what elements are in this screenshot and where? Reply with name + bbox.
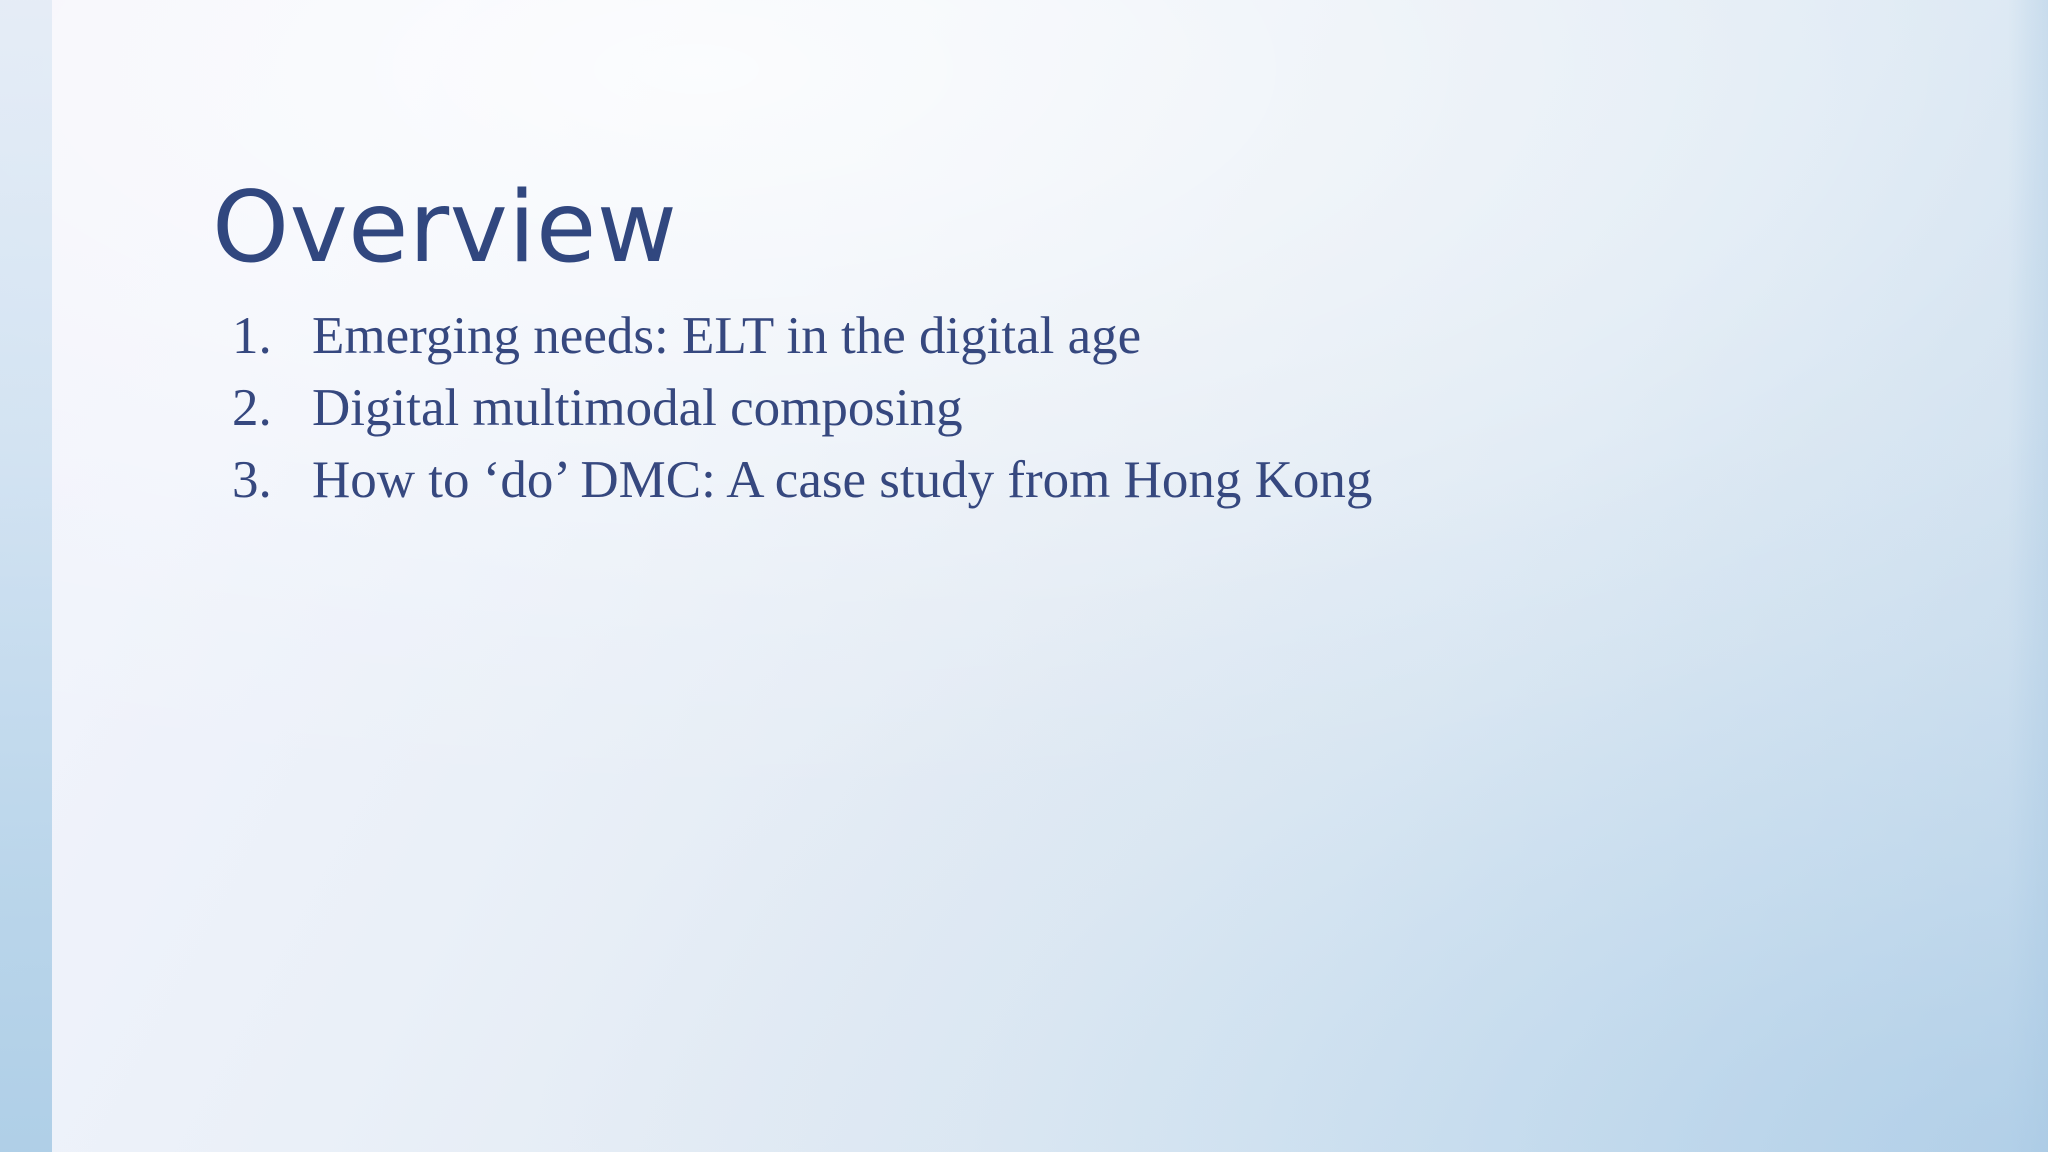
list-item-number: 1.	[232, 300, 312, 372]
list-item-label: Emerging needs: ELT in the digital age	[312, 300, 1141, 372]
list-item-label: How to ‘do’ DMC: A case study from Hong …	[312, 444, 1372, 516]
list-item: 1. Emerging needs: ELT in the digital ag…	[232, 300, 1872, 372]
list-item-label: Digital multimodal composing	[312, 372, 963, 444]
list-item: 2. Digital multimodal composing	[232, 372, 1872, 444]
page-title: Overview	[212, 172, 677, 285]
presentation-slide: Overview 1. Emerging needs: ELT in the d…	[0, 0, 2048, 1152]
slide-content: Overview 1. Emerging needs: ELT in the d…	[0, 0, 2048, 1152]
list-item: 3. How to ‘do’ DMC: A case study from Ho…	[232, 444, 1872, 516]
list-item-number: 3.	[232, 444, 312, 516]
outline-list: 1. Emerging needs: ELT in the digital ag…	[232, 300, 1872, 516]
list-item-number: 2.	[232, 372, 312, 444]
